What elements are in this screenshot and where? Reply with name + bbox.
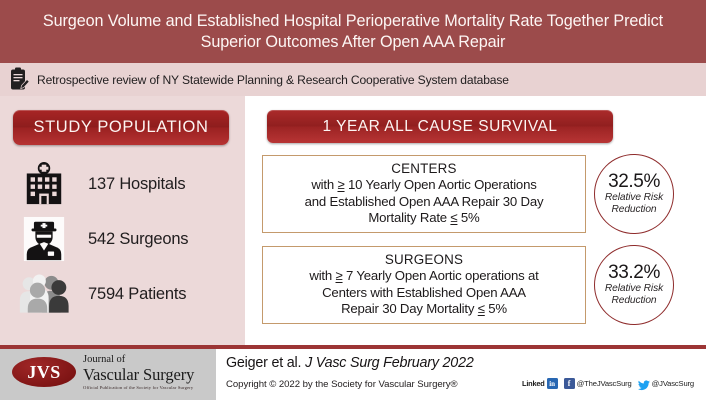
twitter-link[interactable]: @JVascSurg	[638, 378, 694, 389]
risk-caption-line1: Relative Risk	[605, 283, 663, 294]
stat-row-patients: 7594 Patients	[16, 268, 231, 320]
subtitle-text: Retrospective review of NY Statewide Pla…	[37, 73, 509, 87]
clipboard-pencil-icon	[9, 67, 30, 92]
risk-caption-line1: Relative Risk	[605, 192, 663, 203]
citation-journal: J Vasc Surg February 2022	[305, 355, 474, 371]
criteria-line3-pre: Repair 30 Day Mortality	[341, 301, 478, 316]
risk-reduction-caption-surgeons: Relative Risk Reduction	[605, 283, 663, 306]
criteria-line2: Centers with Established Open AAA	[322, 285, 526, 300]
criteria-line1-post: 7 Yearly Open Aortic operations at	[343, 268, 539, 283]
criteria-line1-post: 10 Yearly Open Aortic Operations	[345, 177, 537, 192]
study-population-label: STUDY POPULATION	[34, 118, 209, 137]
study-population-panel: STUDY POPULATION	[0, 96, 245, 345]
greater-equal-symbol: ≥	[337, 177, 344, 192]
survival-banner-label: 1 YEAR ALL CAUSE SURVIVAL	[322, 118, 557, 136]
jvs-tagline: Official Publication of the Society for …	[83, 385, 194, 390]
stat-label-hospitals: 137 Hospitals	[88, 175, 185, 194]
hospital-icon	[16, 158, 72, 210]
criteria-box-centers: CENTERS with ≥ 10 Yearly Open Aortic Ope…	[262, 155, 586, 233]
copyright-text: Copyright © 2022 by the Society for Vasc…	[226, 379, 458, 390]
linkedin-icon: in	[547, 378, 558, 389]
criteria-line1-pre: with	[309, 268, 335, 283]
social-links: Linked in f @TheJVascSurg @JVascSurg	[522, 378, 694, 389]
results-panel: 1 YEAR ALL CAUSE SURVIVAL CENTERS with ≥…	[245, 96, 706, 345]
criteria-title-surgeons: SURGEONS	[385, 252, 463, 267]
page-title: Surgeon Volume and Established Hospital …	[0, 11, 706, 53]
risk-reduction-caption-centers: Relative Risk Reduction	[605, 192, 663, 215]
stat-label-surgeons: 542 Surgeons	[88, 230, 188, 249]
risk-reduction-badge-centers: 32.5% Relative Risk Reduction	[594, 154, 674, 234]
study-population-pill: STUDY POPULATION	[13, 110, 229, 145]
risk-reduction-percent-surgeons: 33.2%	[608, 263, 660, 283]
infographic-poster: Surgeon Volume and Established Hospital …	[0, 0, 706, 400]
citation-authors: Geiger et al.	[226, 355, 305, 371]
stat-label-patients: 7594 Patients	[88, 285, 186, 304]
greater-equal-symbol: ≥	[336, 268, 343, 283]
facebook-link[interactable]: f @TheJVascSurg	[564, 378, 632, 389]
citation: Geiger et al. J Vasc Surg February 2022	[226, 355, 474, 371]
surgeon-icon	[16, 213, 72, 265]
linkedin-word: Linked	[522, 379, 545, 388]
linkedin-link[interactable]: Linked in	[522, 378, 558, 389]
facebook-icon: f	[564, 378, 575, 389]
jvs-wordmark: Journal of Vascular Surgery Official Pub…	[83, 354, 194, 390]
criteria-box-surgeons: SURGEONS with ≥ 7 Yearly Open Aortic ope…	[262, 246, 586, 324]
footer-bar: JVS Journal of Vascular Surgery Official…	[0, 349, 706, 400]
survival-banner: 1 YEAR ALL CAUSE SURVIVAL	[267, 110, 613, 143]
header-bar: Surgeon Volume and Established Hospital …	[0, 0, 706, 63]
subtitle-band: Retrospective review of NY Statewide Pla…	[0, 63, 706, 96]
facebook-handle: @TheJVascSurg	[577, 379, 632, 388]
jvs-monogram-text: JVS	[27, 362, 60, 383]
stat-row-hospitals: 137 Hospitals	[16, 158, 231, 210]
jvs-monogram-icon: JVS	[12, 357, 76, 387]
risk-caption-line2: Reduction	[612, 204, 657, 215]
less-equal-symbol: ≤	[478, 301, 485, 316]
risk-caption-line2: Reduction	[612, 295, 657, 306]
criteria-line1-pre: with	[311, 177, 337, 192]
risk-reduction-percent-centers: 32.5%	[608, 172, 660, 192]
criteria-body-surgeons: with ≥ 7 Yearly Open Aortic operations a…	[309, 268, 538, 318]
twitter-icon	[638, 378, 650, 389]
criteria-line3-post: 5%	[485, 301, 507, 316]
stat-row-surgeons: 542 Surgeons	[16, 213, 231, 265]
twitter-handle: @JVascSurg	[652, 379, 694, 388]
patients-group-icon	[16, 268, 72, 320]
criteria-line3-post: 5%	[457, 210, 479, 225]
criteria-line2: and Established Open AAA Repair 30 Day	[305, 194, 544, 209]
criteria-line3-pre: Mortality Rate	[368, 210, 450, 225]
criteria-body-centers: with ≥ 10 Yearly Open Aortic Operations …	[305, 177, 544, 227]
risk-reduction-badge-surgeons: 33.2% Relative Risk Reduction	[594, 245, 674, 325]
jvs-wordmark-line2: Vascular Surgery	[83, 366, 194, 383]
jvs-journal-logo: JVS Journal of Vascular Surgery Official…	[12, 354, 208, 396]
criteria-title-centers: CENTERS	[391, 161, 456, 176]
